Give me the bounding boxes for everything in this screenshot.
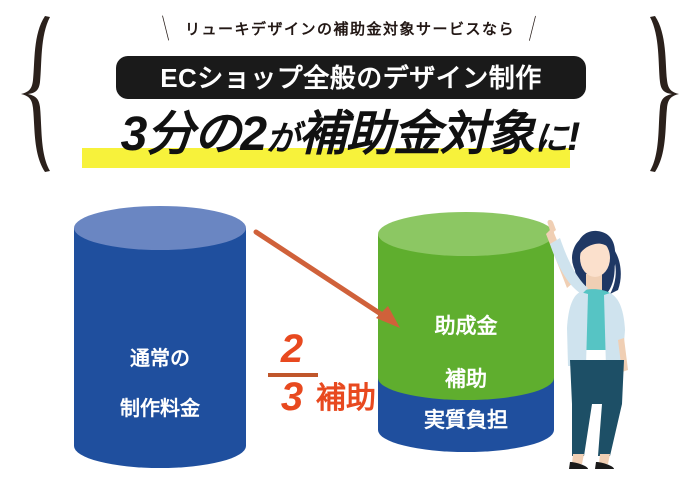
right-cylinder-blue-label: 実質負担: [378, 408, 554, 434]
headline-part-2: が: [266, 120, 299, 158]
woman-illustration: [540, 218, 650, 470]
kicker-text: リューキデザインの補助金対象サービスなら: [185, 21, 515, 38]
banner-pill: ECショップ全般のデザイン制作: [116, 56, 586, 99]
fraction-suffix-label: 補助: [316, 376, 376, 422]
slash-right-icon: ／: [520, 10, 546, 47]
headline-part-3: 補助金対象: [299, 108, 534, 161]
down-right-arrow-icon: [250, 226, 410, 336]
left-cylinder-label-line1: 通常の: [74, 347, 246, 372]
banner-text: ECショップ全般のデザイン制作: [160, 65, 542, 91]
poster-canvas: ＼リューキデザインの補助金対象サービスなら／ ECショップ全般のデザイン制作 3…: [0, 0, 700, 486]
left-cylinder-label-line2: 制作料金: [74, 397, 246, 422]
green-label-line2: 補助: [378, 367, 554, 393]
left-cylinder-label: 通常の 制作料金: [74, 322, 246, 447]
headline-block: 3分の2が補助金対象に!: [0, 104, 700, 174]
cylinder-top-ellipse: [74, 206, 246, 250]
kicker-line: ＼リューキデザインの補助金対象サービスなら／: [0, 18, 700, 39]
chart-bar-normal-price: 通常の 制作料金: [74, 206, 246, 468]
slash-left-icon: ＼: [154, 10, 180, 47]
headline-part-1: 3分の2: [121, 108, 266, 161]
page-title: 3分の2が補助金対象に!: [0, 104, 700, 170]
headline-part-5: !: [567, 115, 579, 159]
headline-part-4: に: [534, 120, 567, 158]
fraction-denominator: 3: [270, 372, 314, 422]
fraction-two-thirds: 2 3 補助: [268, 330, 388, 426]
fraction-numerator: 2: [270, 326, 314, 372]
